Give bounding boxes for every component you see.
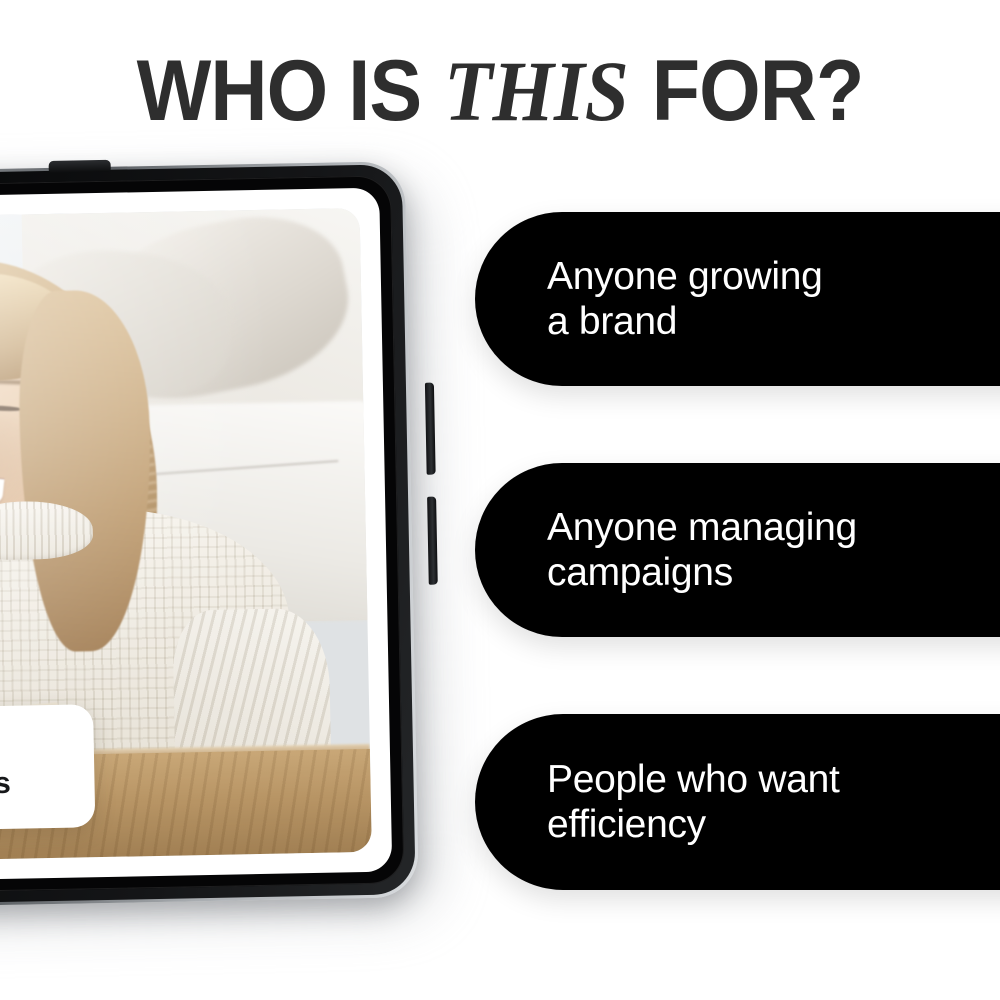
bullet-pill-2-text: Anyone managing campaigns	[547, 505, 857, 595]
bullet-pill-1[interactable]: Anyone growing a brand	[475, 212, 1000, 386]
bullet-pill-1-line-2: a brand	[547, 300, 677, 343]
caption-bold-text: Campaigns	[0, 767, 11, 803]
page-title-emphasis: THIS	[442, 43, 630, 139]
page-title: WHO IS THIS FOR?	[40, 48, 960, 134]
slide-canvas: WHO IS THIS FOR?	[0, 0, 1000, 1000]
caption-line-1: AI-Powered Marketing	[0, 730, 72, 771]
bullet-pill-2-line-2: campaigns	[547, 551, 733, 594]
caption-line-2: For Smarter Campaigns	[0, 766, 73, 807]
screen-caption-card: AI-Powered Marketing For Smarter Campaig…	[0, 704, 95, 835]
bullet-pill-1-line-1: Anyone growing	[547, 255, 822, 298]
bullet-pill-3-line-1: People who want	[547, 758, 840, 801]
bullet-pill-2[interactable]: Anyone managing campaigns	[475, 463, 1000, 637]
bullet-pill-3-text: People who want efficiency	[547, 757, 840, 847]
camera-notch-icon	[49, 160, 111, 173]
power-button[interactable]	[427, 497, 438, 585]
volume-button[interactable]	[425, 383, 436, 475]
bullet-pill-1-text: Anyone growing a brand	[547, 254, 822, 344]
page-title-part2: FOR?	[652, 43, 864, 139]
page-title-part1: WHO IS	[137, 43, 422, 139]
device-screen: AI-Powered Marketing For Smarter Campaig…	[0, 188, 392, 885]
tablet-device: AI-Powered Marketing For Smarter Campaig…	[0, 161, 437, 935]
bullet-pill-3[interactable]: People who want efficiency	[475, 714, 1000, 890]
bullet-pill-3-line-2: efficiency	[547, 803, 706, 846]
bullet-pill-2-line-1: Anyone managing	[547, 506, 857, 549]
